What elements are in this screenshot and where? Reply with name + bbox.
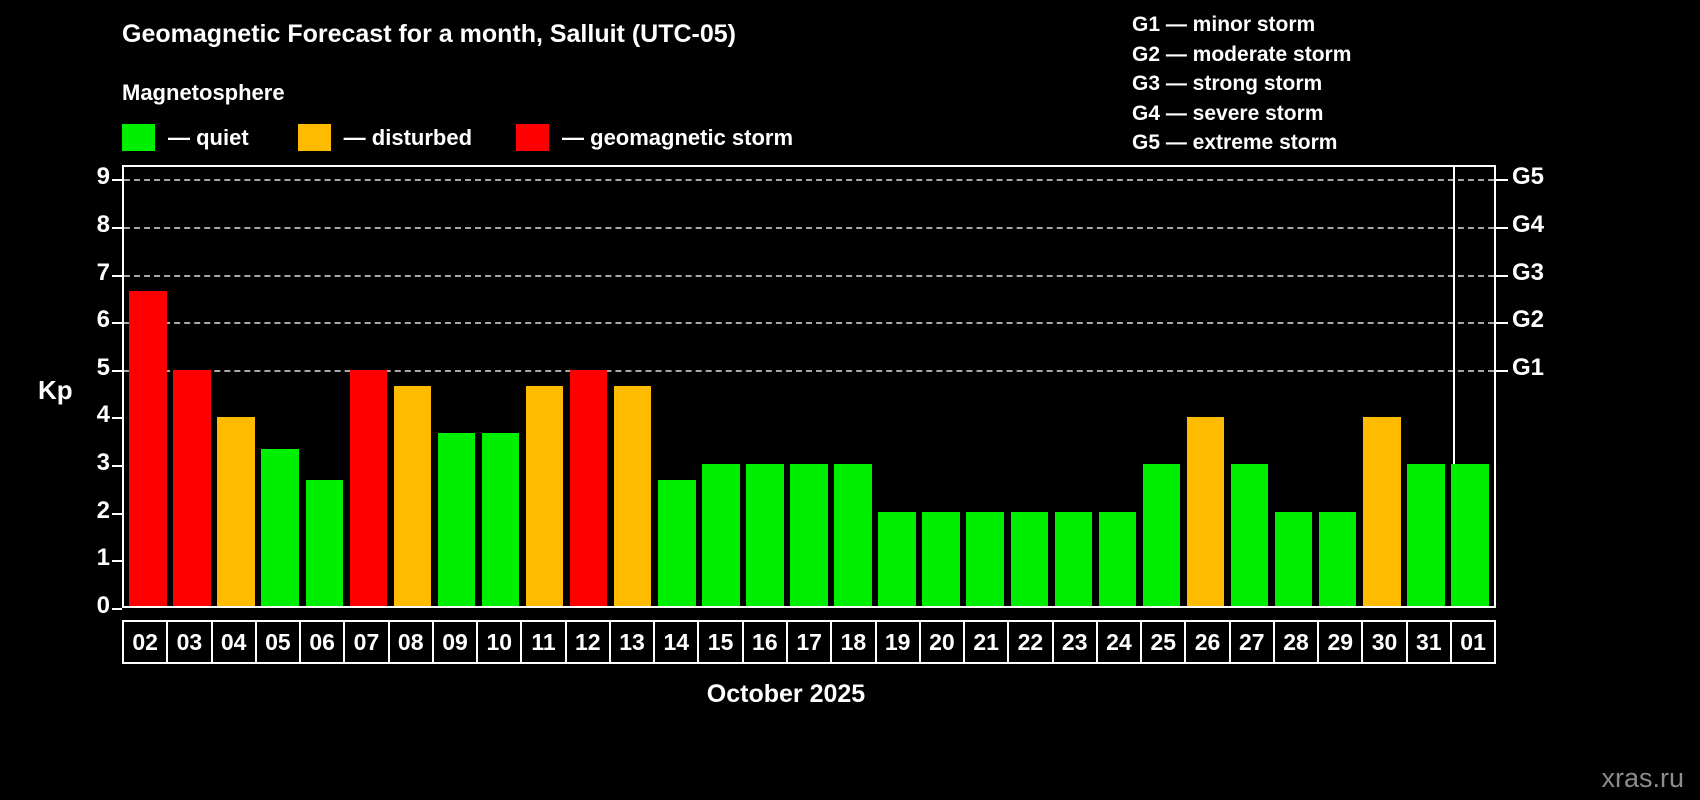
storm-scale-legend: G1 — minor storm G2 — moderate storm G3 … (1132, 10, 1351, 158)
bar-29 (1319, 512, 1356, 606)
g-tick-mark-g5 (1496, 179, 1508, 181)
bar-11 (526, 386, 563, 606)
bar-slot (787, 167, 831, 606)
day-label-16: 16 (744, 622, 788, 662)
day-label-03: 03 (168, 622, 212, 662)
bar-slot (170, 167, 214, 606)
bar-22 (1011, 512, 1048, 606)
bar-slot (963, 167, 1007, 606)
legend-item-quiet: — quiet (122, 124, 249, 151)
bar-slot (831, 167, 875, 606)
day-label-06: 06 (301, 622, 345, 662)
bar-slot (1272, 167, 1316, 606)
y-tick-mark-2 (112, 513, 122, 515)
bar-series (126, 167, 1492, 606)
y-tick-label-3: 3 (62, 449, 110, 477)
bar-02 (129, 291, 166, 606)
bar-03 (173, 370, 210, 606)
bar-10 (482, 433, 519, 606)
g-tick-label-g2: G2 (1512, 306, 1544, 334)
y-tick-label-4: 4 (62, 401, 110, 429)
bar-01 (1451, 464, 1488, 606)
day-label-21: 21 (965, 622, 1009, 662)
bar-slot (479, 167, 523, 606)
bar-18 (834, 464, 871, 606)
day-label-24: 24 (1098, 622, 1142, 662)
bar-06 (306, 480, 343, 606)
g-axis-ticks: G1G2G3G4G5 (1512, 165, 1582, 608)
y-tick-label-8: 8 (62, 211, 110, 239)
bar-05 (261, 449, 298, 606)
y-tick-mark-6 (112, 322, 122, 324)
storm-scale-g3: G3 — strong storm (1132, 69, 1351, 99)
day-label-19: 19 (877, 622, 921, 662)
bar-slot (655, 167, 699, 606)
g-tick-mark-g1 (1496, 370, 1508, 372)
y-tick-mark-3 (112, 465, 122, 467)
day-label-31: 31 (1408, 622, 1452, 662)
bar-slot (1448, 167, 1492, 606)
day-label-22: 22 (1009, 622, 1053, 662)
bar-slot (875, 167, 919, 606)
day-label-11: 11 (522, 622, 566, 662)
bar-24 (1099, 512, 1136, 606)
day-label-05: 05 (257, 622, 301, 662)
bar-slot (258, 167, 302, 606)
watermark: xras.ru (1601, 763, 1684, 794)
bar-slot (919, 167, 963, 606)
y-tick-label-0: 0 (62, 592, 110, 620)
bar-slot (1184, 167, 1228, 606)
storm-scale-g2: G2 — moderate storm (1132, 40, 1351, 70)
bar-30 (1363, 417, 1400, 606)
bar-slot (214, 167, 258, 606)
bar-31 (1407, 464, 1444, 606)
legend-swatch-storm (516, 124, 549, 151)
x-axis-title-text: October 2025 (707, 680, 865, 708)
day-label-30: 30 (1363, 622, 1407, 662)
y-tick-label-2: 2 (62, 497, 110, 525)
page-title: Geomagnetic Forecast for a month, Sallui… (122, 20, 736, 49)
bar-slot (699, 167, 743, 606)
legend-heading: Magnetosphere (122, 80, 285, 106)
magnetosphere-legend: — quiet — disturbed — geomagnetic storm (122, 124, 793, 151)
y-tick-label-9: 9 (62, 163, 110, 191)
g-tick-mark-g2 (1496, 322, 1508, 324)
bar-slot (346, 167, 390, 606)
bar-21 (966, 512, 1003, 606)
x-axis-day-labels: 0203040506070809101112131415161718192021… (122, 620, 1496, 664)
y-tick-mark-0 (112, 608, 122, 610)
bar-slot (523, 167, 567, 606)
g-tick-label-g4: G4 (1512, 211, 1544, 239)
y-tick-mark-8 (112, 227, 122, 229)
bar-slot (1095, 167, 1139, 606)
bar-slot (1007, 167, 1051, 606)
day-label-23: 23 (1054, 622, 1098, 662)
day-label-10: 10 (478, 622, 522, 662)
bar-slot (434, 167, 478, 606)
legend-label-storm: — geomagnetic storm (562, 125, 793, 151)
bar-slot (567, 167, 611, 606)
day-label-02: 02 (124, 622, 168, 662)
day-label-18: 18 (832, 622, 876, 662)
y-tick-label-7: 7 (62, 259, 110, 287)
legend-label-disturbed: — disturbed (344, 125, 472, 151)
bar-25 (1143, 464, 1180, 606)
legend-item-disturbed: — disturbed (298, 124, 472, 151)
storm-scale-g5: G5 — extreme storm (1132, 128, 1351, 158)
bar-slot (1360, 167, 1404, 606)
bar-16 (746, 464, 783, 606)
day-label-29: 29 (1319, 622, 1363, 662)
day-label-14: 14 (655, 622, 699, 662)
y-tick-label-6: 6 (62, 306, 110, 334)
bar-04 (217, 417, 254, 606)
y-axis-ticks: 0123456789 (62, 165, 110, 608)
day-label-17: 17 (788, 622, 832, 662)
bar-slot (1404, 167, 1448, 606)
g-tick-label-g5: G5 (1512, 163, 1544, 191)
legend-swatch-disturbed (298, 124, 331, 151)
bar-slot (1139, 167, 1183, 606)
g-tick-label-g1: G1 (1512, 354, 1544, 382)
bar-slot (1316, 167, 1360, 606)
y-tick-mark-5 (112, 370, 122, 372)
bar-27 (1231, 464, 1268, 606)
y-tick-label-5: 5 (62, 354, 110, 382)
x-axis-title: October 2025 (0, 680, 1700, 709)
y-tick-mark-1 (112, 560, 122, 562)
legend-label-quiet: — quiet (168, 125, 249, 151)
day-label-25: 25 (1142, 622, 1186, 662)
chart-page: Geomagnetic Forecast for a month, Sallui… (0, 0, 1700, 800)
y-tick-mark-7 (112, 275, 122, 277)
bar-14 (658, 480, 695, 606)
y-tick-label-1: 1 (62, 544, 110, 572)
day-label-27: 27 (1231, 622, 1275, 662)
day-label-28: 28 (1275, 622, 1319, 662)
y-tick-mark-4 (112, 417, 122, 419)
g-tick-mark-g4 (1496, 227, 1508, 229)
bar-slot (302, 167, 346, 606)
legend-item-storm: — geomagnetic storm (516, 124, 793, 151)
bar-28 (1275, 512, 1312, 606)
g-tick-label-g3: G3 (1512, 259, 1544, 287)
bar-17 (790, 464, 827, 606)
bar-slot (390, 167, 434, 606)
day-label-15: 15 (699, 622, 743, 662)
day-label-07: 07 (345, 622, 389, 662)
y-tick-mark-9 (112, 179, 122, 181)
day-label-09: 09 (434, 622, 478, 662)
storm-scale-g4: G4 — severe storm (1132, 99, 1351, 129)
day-label-04: 04 (213, 622, 257, 662)
bar-15 (702, 464, 739, 606)
bar-19 (878, 512, 915, 606)
bar-slot (126, 167, 170, 606)
bar-23 (1055, 512, 1092, 606)
legend-swatch-quiet (122, 124, 155, 151)
day-label-08: 08 (390, 622, 434, 662)
bar-20 (922, 512, 959, 606)
storm-scale-g1: G1 — minor storm (1132, 10, 1351, 40)
bar-07 (350, 370, 387, 606)
bar-08 (394, 386, 431, 606)
day-label-01: 01 (1452, 622, 1494, 662)
bar-slot (743, 167, 787, 606)
day-label-20: 20 (921, 622, 965, 662)
bar-slot (1051, 167, 1095, 606)
bar-13 (614, 386, 651, 606)
bar-09 (438, 433, 475, 606)
g-tick-mark-g3 (1496, 275, 1508, 277)
bar-slot (611, 167, 655, 606)
bar-slot (1228, 167, 1272, 606)
bar-26 (1187, 417, 1224, 606)
bar-12 (570, 370, 607, 606)
day-label-26: 26 (1186, 622, 1230, 662)
day-label-13: 13 (611, 622, 655, 662)
day-label-12: 12 (567, 622, 611, 662)
